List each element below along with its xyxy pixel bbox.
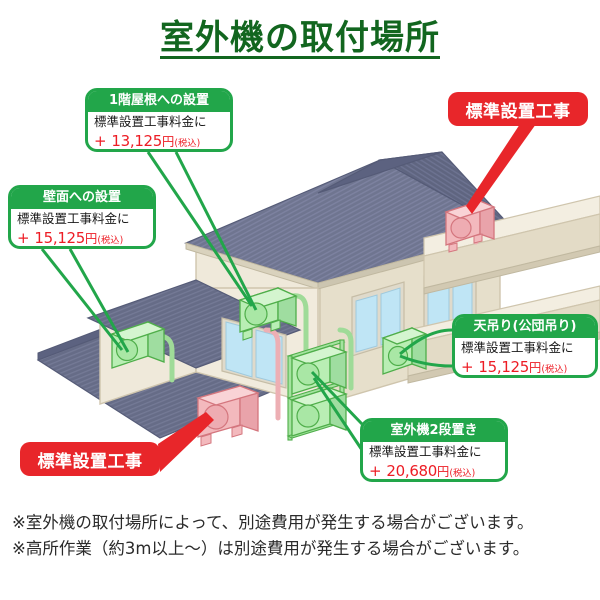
price-plus: + <box>461 358 474 376</box>
callout-ceiling-price: + 15,125円(税込) <box>461 358 589 376</box>
price-yen: 円 <box>85 232 97 246</box>
callout-ceiling-header: 天吊り(公団吊り) <box>455 317 595 338</box>
callout-wall-price: + 15,125円(税込) <box>17 229 147 247</box>
pointer-badge-top <box>466 124 536 214</box>
price-amount: 15,125 <box>34 229 85 247</box>
footnotes: ※室外機の取付場所によって、別途費用が発生する場合がございます。 ※高所作業（約… <box>12 510 592 561</box>
price-yen: 円 <box>162 135 174 149</box>
price-amount: 13,125 <box>111 132 162 150</box>
callout-ceiling-line1: 標準設置工事料金に <box>461 341 589 355</box>
price-amount: 20,680 <box>386 462 437 480</box>
callout-wall-body: 標準設置工事料金に + 15,125円(税込) <box>11 209 153 249</box>
callout-roof-body: 標準設置工事料金に + 13,125円(税込) <box>88 112 230 152</box>
callout-two-tier-price: + 20,680円(税込) <box>369 462 499 480</box>
badge-standard-installation-top[interactable]: 標準設置工事 <box>448 92 588 126</box>
price-yen: 円 <box>529 361 541 375</box>
price-tax: (税込) <box>174 138 200 149</box>
price-plus: + <box>369 462 382 480</box>
callout-two-tier-line1: 標準設置工事料金に <box>369 445 499 459</box>
price-tax: (税込) <box>449 468 475 479</box>
callout-two-tier-installation[interactable]: 室外機2段置き 標準設置工事料金に + 20,680円(税込) <box>360 418 508 482</box>
price-plus: + <box>17 229 30 247</box>
callout-roof-installation[interactable]: 1階屋根への設置 標準設置工事料金に + 13,125円(税込) <box>85 88 233 152</box>
callout-roof-line1: 標準設置工事料金に <box>94 115 224 129</box>
price-tax: (税込) <box>541 364 567 375</box>
footnote-line-2: ※高所作業（約3m以上〜）は別途費用が発生する場合がございます。 <box>12 536 592 562</box>
callout-ceiling-installation[interactable]: 天吊り(公団吊り) 標準設置工事料金に + 15,125円(税込) <box>452 314 598 378</box>
price-tax: (税込) <box>97 235 123 246</box>
badge-standard-installation-bottom[interactable]: 標準設置工事 <box>20 442 160 476</box>
illustration-stage: 室外機の取付場所 <box>0 0 600 600</box>
price-yen: 円 <box>437 465 449 479</box>
price-amount: 15,125 <box>478 358 529 376</box>
footnote-line-1: ※室外機の取付場所によって、別途費用が発生する場合がございます。 <box>12 510 592 536</box>
callout-wall-line1: 標準設置工事料金に <box>17 212 147 226</box>
callout-ceiling-body: 標準設置工事料金に + 15,125円(税込) <box>455 338 595 378</box>
callout-two-tier-body: 標準設置工事料金に + 20,680円(税込) <box>363 442 505 482</box>
callout-roof-price: + 13,125円(税込) <box>94 132 224 150</box>
callout-wall-installation[interactable]: 壁面への設置 標準設置工事料金に + 15,125円(税込) <box>8 185 156 249</box>
callout-wall-header: 壁面への設置 <box>11 188 153 209</box>
price-plus: + <box>94 132 107 150</box>
callout-two-tier-header: 室外機2段置き <box>363 421 505 442</box>
callout-roof-header: 1階屋根への設置 <box>88 91 230 112</box>
